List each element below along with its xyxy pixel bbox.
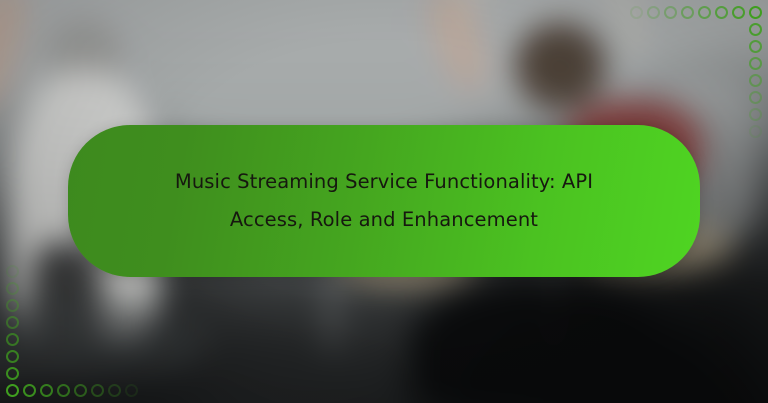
page-title-line-1: Music Streaming Service Functionality: A… xyxy=(175,170,593,193)
page-title: Music Streaming Service Functionality: A… xyxy=(129,163,639,239)
background-shape-floor xyxy=(0,304,207,380)
hero-banner: Music Streaming Service Functionality: A… xyxy=(0,0,768,403)
title-pill: Music Streaming Service Functionality: A… xyxy=(68,125,700,277)
page-title-line-2: Access, Role and Enhancement xyxy=(230,208,538,231)
background-shape-drum xyxy=(412,282,660,403)
background-shape-head-center xyxy=(515,23,606,109)
